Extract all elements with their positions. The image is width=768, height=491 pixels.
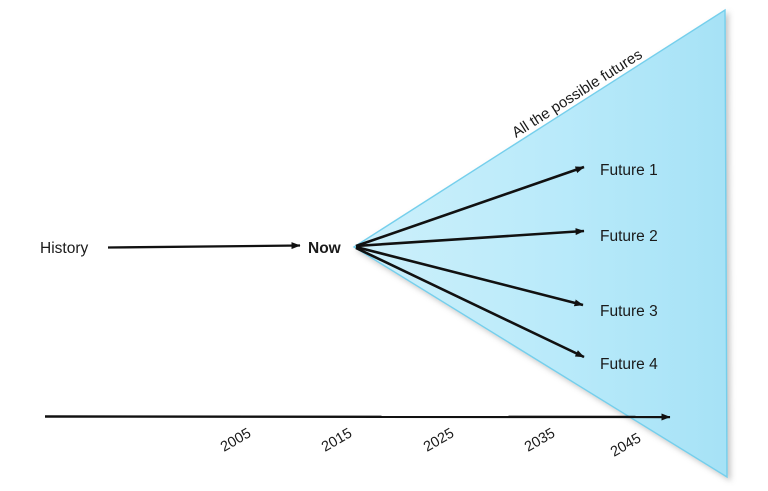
- history-label: History: [40, 240, 88, 257]
- year-label-2005: 2005: [218, 425, 254, 455]
- future-4-label: Future 4: [600, 356, 658, 373]
- year-label-2045: 2045: [608, 430, 644, 460]
- future-1-label: Future 1: [600, 162, 658, 179]
- history-arrow: [108, 246, 300, 248]
- futures-cone-diagram: History Now All the possible futures Fut…: [0, 0, 768, 491]
- diagram-canvas: History Now All the possible futures Fut…: [0, 0, 768, 491]
- year-label-2035: 2035: [522, 425, 558, 455]
- future-2-label: Future 2: [600, 228, 658, 245]
- year-label-2025: 2025: [421, 425, 457, 455]
- now-label: Now: [308, 240, 342, 257]
- year-label-2015: 2015: [319, 425, 355, 455]
- timeline-axis: [45, 417, 670, 418]
- future-3-label: Future 3: [600, 303, 658, 320]
